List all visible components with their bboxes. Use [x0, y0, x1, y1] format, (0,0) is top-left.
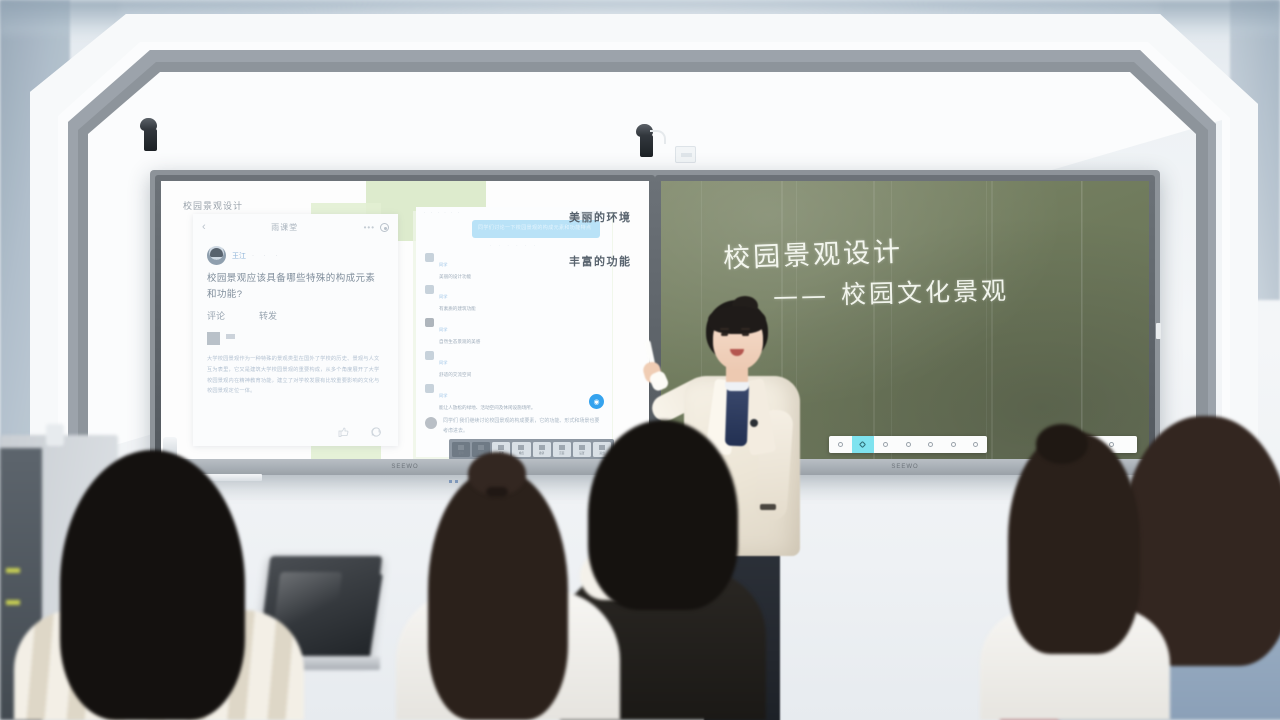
- lapel-pin: [750, 419, 758, 427]
- courseware-toolbar[interactable]: 菜单 选择 画笔 橡皮 撤销 页面 设置 退出: [449, 439, 614, 460]
- avatar: [425, 384, 434, 393]
- camera-left: [140, 118, 162, 152]
- shapes-icon[interactable]: [874, 436, 897, 453]
- message-text: 能让人放松的绿地、活动空间及休闲设施场所。: [439, 404, 535, 412]
- toolbar-eraser-button[interactable]: 橡皮: [512, 442, 530, 457]
- teacher-fringe: [708, 306, 766, 334]
- teacher-eyebrow: [720, 328, 729, 330]
- message-author: 同学: [439, 393, 447, 398]
- chalk-streak: [1081, 181, 1083, 464]
- camera-body: [144, 129, 157, 151]
- avatar: [207, 246, 226, 265]
- gear-icon[interactable]: [380, 223, 389, 232]
- discussion-panel[interactable]: · · · · · · 同学们讨论一下校园景观的构成元素和功能特点 · · · …: [416, 207, 612, 457]
- post-card[interactable]: ‹ 雨课堂 ••• 王江 · · · 校园景观应该具备哪些特殊的构成元素和功能?…: [193, 214, 398, 446]
- avatar: [207, 332, 220, 345]
- board-brand-label: SEEWO: [891, 464, 918, 470]
- left-board-brandbar: SEEWO: [155, 459, 655, 475]
- toolbar-menu-button[interactable]: 菜单: [452, 442, 470, 457]
- message-text: 美丽的设计功能: [439, 273, 471, 281]
- avatar: [425, 351, 434, 360]
- board-floating-toolbar[interactable]: [829, 436, 987, 453]
- comment-action[interactable]: 评论: [207, 309, 225, 322]
- avatar: [425, 417, 437, 429]
- board-heading-line1: 校园景观设计: [722, 230, 903, 276]
- avatar: [425, 318, 434, 327]
- classroom-scene: 校园景观设计 ‹ 雨课堂 ••• 王江 · · · 校园景观应该具备哪些特殊的: [0, 0, 1280, 720]
- message-author: 同学: [439, 327, 447, 332]
- app-header: ‹ 雨课堂 •••: [193, 214, 398, 240]
- desk-item: [46, 424, 64, 446]
- wristwatch: [760, 504, 776, 510]
- message-author: 同学: [439, 262, 447, 267]
- eraser-icon[interactable]: [897, 436, 920, 453]
- message-author: 同学: [439, 294, 447, 299]
- left-screen[interactable]: 校园景观设计 ‹ 雨课堂 ••• 王江 · · · 校园景观应该具备哪些特殊的: [161, 181, 649, 464]
- link-icon[interactable]: [919, 436, 942, 453]
- student-ponytail: [1036, 424, 1088, 464]
- toolbar-undo-button[interactable]: 撤销: [533, 442, 551, 457]
- message-text: 舒适的交流空间: [439, 371, 471, 379]
- board-subheading: 校园文化景观: [841, 276, 1010, 309]
- chalk-streak: [873, 181, 875, 464]
- comment-text: 大学校园景观作为一种特殊的景观类型在国外了学校的历史、景观与人文互为表里，它又是…: [207, 354, 384, 397]
- app-title: 雨课堂: [206, 222, 364, 233]
- comment-bubble-icon[interactable]: [370, 426, 382, 438]
- toolbar-settings-button[interactable]: 设置: [573, 442, 591, 457]
- board-side-button[interactable]: [1156, 323, 1161, 339]
- ceiling-light-glow: [120, 0, 1160, 60]
- student-hair: [60, 450, 245, 720]
- wall-power-outlet: [675, 146, 696, 163]
- toolbar-page-button[interactable]: 页面: [553, 442, 571, 457]
- author-name: 王江: [232, 251, 246, 261]
- list-item: 同学 能让人放松的绿地、活动空间及休闲设施场所。: [416, 379, 612, 412]
- list-item: 同学 自然生态景观的美感: [416, 313, 612, 346]
- teacher-eyebrow: [741, 328, 750, 330]
- lesson-title: 校园景观设计: [183, 199, 243, 212]
- message-text: 有素质的建筑功能: [439, 305, 476, 313]
- add-icon[interactable]: [964, 436, 987, 453]
- post-author-row: 王江 · · ·: [193, 240, 398, 267]
- left-board-bezel: 校园景观设计 ‹ 雨课堂 ••• 王江 · · · 校园景观应该具备哪些特殊的: [155, 175, 655, 470]
- note-text: 同学们 我们继续讨论校园景观的构成要素，它的功能、形式和场景也要考虑进去。: [443, 417, 603, 436]
- post-meta: · · ·: [252, 253, 281, 259]
- share-action[interactable]: 转发: [259, 309, 277, 322]
- thumbs-up-icon[interactable]: [338, 426, 350, 438]
- comment-header: [207, 332, 384, 345]
- equipment-led: [6, 600, 20, 605]
- teacher-note: 同学们 我们继续讨论校园景观的构成要素，它的功能、形式和场景也要考虑进去。: [416, 411, 612, 436]
- post-actions: 评论 转发: [193, 302, 398, 322]
- student-hair: [588, 420, 738, 610]
- camera-center: [636, 124, 658, 158]
- wall-panel-left: [0, 0, 70, 470]
- board-brand-label: SEEWO: [391, 464, 418, 470]
- chalk-streak: [991, 181, 993, 464]
- mic-icon[interactable]: [942, 436, 965, 453]
- post-question: 校园景观应该具备哪些特殊的构成元素和功能?: [193, 267, 398, 302]
- list-item: 同学 舒适的交流空间: [416, 346, 612, 379]
- avatar: [425, 253, 434, 262]
- more-icon[interactable]: •••: [364, 223, 375, 232]
- camera-mount-arm: [650, 130, 666, 144]
- hair-tie: [486, 487, 508, 497]
- teacher-eye: [721, 333, 728, 336]
- message-text: 自然生态景观的美感: [439, 338, 480, 346]
- pen-icon[interactable]: [852, 436, 875, 453]
- voice-icon[interactable]: ◉: [589, 394, 604, 409]
- comment-block: 大学校园景观作为一种特殊的景观类型在国外了学校的历史、景观与人文互为表里，它又是…: [193, 322, 398, 397]
- board-status-leds: [449, 480, 458, 483]
- keyword-rich-functions: 丰富的功能: [569, 253, 632, 269]
- message-author: 同学: [439, 360, 447, 365]
- avatar: [425, 285, 434, 294]
- student-hair: [1008, 432, 1140, 654]
- comment-name-placeholder: [226, 334, 235, 339]
- teacher-eye: [742, 333, 749, 336]
- keyword-beautiful-environment: 美丽的环境: [569, 209, 632, 225]
- wall-panel-right: [1230, 0, 1280, 300]
- student-hair: [428, 470, 568, 720]
- comment-footer: [338, 426, 382, 438]
- equipment-led: [6, 568, 20, 573]
- neck-scarf: [725, 382, 749, 447]
- list-item: 同学 有素质的建筑功能: [416, 280, 612, 313]
